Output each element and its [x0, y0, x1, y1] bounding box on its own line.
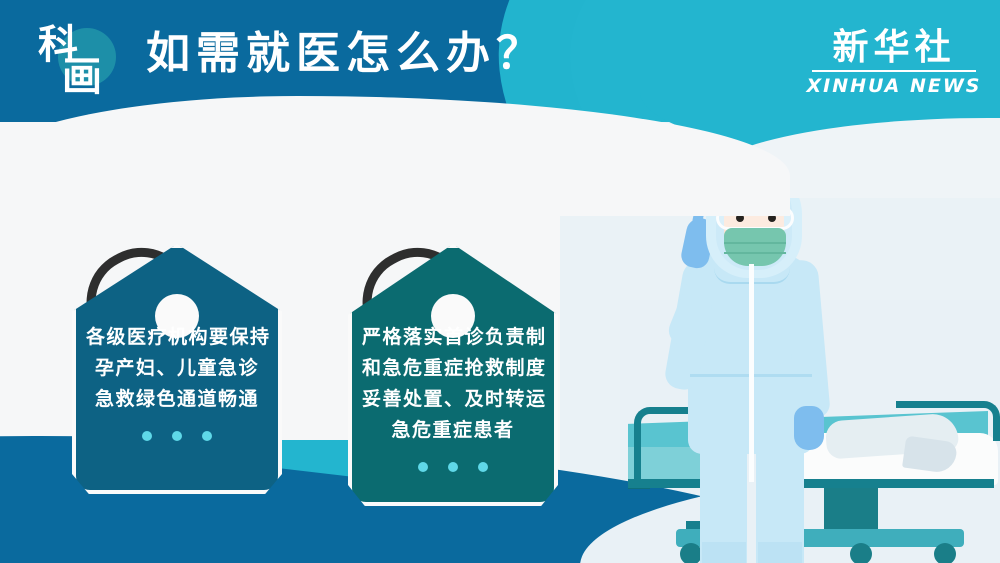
- tag-dot: [172, 431, 182, 441]
- kehua-logo[interactable]: 科 画: [36, 22, 132, 106]
- worker-boot-left: [702, 542, 746, 563]
- page-title: 如需就医怎么办？: [146, 28, 546, 80]
- face-mask-icon: [724, 228, 786, 266]
- bed-rail-right: [896, 401, 1000, 441]
- xinhua-news-logo[interactable]: 新华社 XINHUA NEWS: [806, 28, 982, 97]
- tag-line: 严格落实首诊负责制: [362, 322, 544, 353]
- xinhua-logo-cn: 新华社: [806, 28, 982, 68]
- tag-line: 孕产妇、儿童急诊: [86, 353, 268, 384]
- worker-boot-right: [758, 542, 802, 563]
- tag-dot: [418, 462, 428, 472]
- bed-wheel: [934, 543, 956, 563]
- tag-dot: [202, 431, 212, 441]
- xinhua-logo-rule: [812, 70, 976, 72]
- info-tag-card-1[interactable]: 各级医疗机构要保持 孕产妇、儿童急诊 急救绿色通道畅通: [72, 244, 282, 494]
- tag-line: 急危重症患者: [362, 415, 544, 446]
- tag-dot: [142, 431, 152, 441]
- tag-line: 和急危重症抢救制度: [362, 353, 544, 384]
- worker-glove-right: [794, 406, 824, 450]
- tag-line: 各级医疗机构要保持: [86, 322, 268, 353]
- medical-worker-illustration: 身穿防护服的医护人员，戴护目镜和口罩，竖起食指: [648, 162, 852, 563]
- kehua-logo-text: 科 画: [36, 26, 132, 106]
- worker-suit-zipper: [749, 264, 754, 482]
- kehua-logo-char-bottom: 画: [62, 58, 132, 96]
- tag-text: 严格落实首诊负责制 和急危重症抢救制度 妥善处置、及时转运 急危重症患者: [362, 322, 544, 446]
- infographic-poster: 医院推床 身穿防护服的医护人员，戴护目镜和口罩，竖起食指: [0, 0, 1000, 563]
- face-mask-fold: [724, 252, 786, 254]
- tag-dot: [478, 462, 488, 472]
- tag-text: 各级医疗机构要保持 孕产妇、儿童急诊 急救绿色通道畅通: [86, 322, 268, 415]
- face-mask-fold: [724, 242, 786, 244]
- bed-alt-text: 医院推床: [628, 393, 629, 394]
- tag-dots: [362, 462, 544, 472]
- tag-line: 妥善处置、及时转运: [362, 384, 544, 415]
- tag-dot: [448, 462, 458, 472]
- info-tag-card-2[interactable]: 严格落实首诊负责制 和急危重症抢救制度 妥善处置、及时转运 急危重症患者: [348, 244, 558, 506]
- tag-line: 急救绿色通道畅通: [86, 384, 268, 415]
- bed-wheel: [850, 543, 872, 563]
- xinhua-logo-en: XINHUA NEWS: [806, 75, 982, 97]
- tag-dots: [86, 431, 268, 441]
